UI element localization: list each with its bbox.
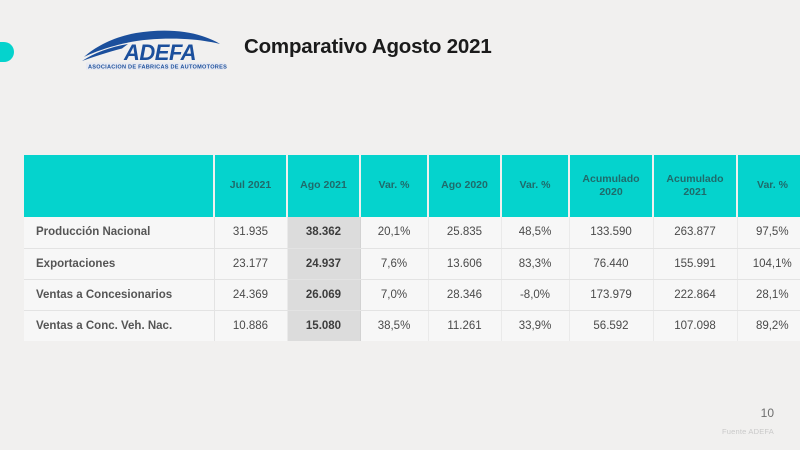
- cell-ago-2021: 24.937: [287, 248, 360, 279]
- cell-jul-2021: 23.177: [214, 248, 287, 279]
- column-header-label: Var. %: [520, 179, 551, 191]
- cell-ago-2020: 11.261: [428, 310, 501, 341]
- column-header-acumulado-2021: Acumulado 2021: [653, 155, 737, 217]
- cell-acumulado-2021: 107.098: [653, 310, 737, 341]
- cell-acumulado-2021: 263.877: [653, 217, 737, 248]
- cell-acumulado-2020: 173.979: [569, 279, 653, 310]
- column-header-label-line1: Acumulado: [666, 173, 723, 185]
- decorative-dot: [0, 42, 14, 62]
- page-number: 10: [761, 406, 774, 420]
- cell-var-mes: 38,5%: [360, 310, 428, 341]
- cell-var-acumulado: 28,1%: [737, 279, 800, 310]
- page-title: Comparativo Agosto 2021: [244, 35, 492, 61]
- cell-var-interanual: 48,5%: [501, 217, 569, 248]
- cell-acumulado-2020: 56.592: [569, 310, 653, 341]
- column-header-label: Var. %: [757, 179, 788, 191]
- column-header-blank: [24, 155, 214, 217]
- column-header-label: Var. %: [379, 179, 410, 191]
- cell-ago-2021: 38.362: [287, 217, 360, 248]
- source-note: Fuente ADEFA: [722, 427, 774, 436]
- cell-ago-2020: 13.606: [428, 248, 501, 279]
- column-header-label: Jul 2021: [230, 179, 271, 191]
- cell-var-mes: 7,6%: [360, 248, 428, 279]
- adefa-logo-mark: ADEFA ASOCIACION DE FABRICAS DE AUTOMOTO…: [80, 24, 230, 72]
- row-label: Exportaciones: [24, 248, 214, 279]
- table-body: Producción Nacional 31.935 38.362 20,1% …: [24, 217, 800, 341]
- column-header-jul-2021: Jul 2021: [214, 155, 287, 217]
- table-row: Producción Nacional 31.935 38.362 20,1% …: [24, 217, 800, 248]
- column-header-ago-2020: Ago 2020: [428, 155, 501, 217]
- cell-var-mes: 7,0%: [360, 279, 428, 310]
- cell-jul-2021: 24.369: [214, 279, 287, 310]
- cell-jul-2021: 10.886: [214, 310, 287, 341]
- slide: ADEFA ASOCIACION DE FABRICAS DE AUTOMOTO…: [0, 0, 800, 450]
- cell-ago-2021: 26.069: [287, 279, 360, 310]
- table-row: Exportaciones 23.177 24.937 7,6% 13.606 …: [24, 248, 800, 279]
- comparison-table: Jul 2021 Ago 2021 Var. % Ago 2020 Var. %: [24, 155, 800, 341]
- column-header-var-interanual: Var. %: [501, 155, 569, 217]
- table-header-row: Jul 2021 Ago 2021 Var. % Ago 2020 Var. %: [24, 155, 800, 217]
- cell-var-acumulado: 89,2%: [737, 310, 800, 341]
- cell-var-acumulado: 104,1%: [737, 248, 800, 279]
- column-header-var-acumulado: Var. %: [737, 155, 800, 217]
- cell-var-interanual: 83,3%: [501, 248, 569, 279]
- column-header-label-line2: 2020: [599, 186, 622, 198]
- table-row: Ventas a Concesionarios 24.369 26.069 7,…: [24, 279, 800, 310]
- column-header-label-line2: 2021: [683, 186, 706, 198]
- cell-jul-2021: 31.935: [214, 217, 287, 248]
- adefa-logo: ADEFA ASOCIACION DE FABRICAS DE AUTOMOTO…: [80, 24, 230, 72]
- cell-var-acumulado: 97,5%: [737, 217, 800, 248]
- cell-var-interanual: -8,0%: [501, 279, 569, 310]
- table-row: Ventas a Conc. Veh. Nac. 10.886 15.080 3…: [24, 310, 800, 341]
- column-header-label: Ago 2021: [300, 179, 347, 191]
- slide-header: ADEFA ASOCIACION DE FABRICAS DE AUTOMOTO…: [80, 24, 492, 72]
- cell-acumulado-2021: 155.991: [653, 248, 737, 279]
- column-header-var-mes: Var. %: [360, 155, 428, 217]
- row-label: Producción Nacional: [24, 217, 214, 248]
- cell-ago-2020: 25.835: [428, 217, 501, 248]
- cell-acumulado-2020: 76.440: [569, 248, 653, 279]
- cell-ago-2021: 15.080: [287, 310, 360, 341]
- column-header-acumulado-2020: Acumulado 2020: [569, 155, 653, 217]
- cell-acumulado-2020: 133.590: [569, 217, 653, 248]
- cell-ago-2020: 28.346: [428, 279, 501, 310]
- table-header: Jul 2021 Ago 2021 Var. % Ago 2020 Var. %: [24, 155, 800, 217]
- adefa-logo-tagline: ASOCIACION DE FABRICAS DE AUTOMOTORES: [88, 65, 227, 71]
- row-label: Ventas a Concesionarios: [24, 279, 214, 310]
- column-header-label: Ago 2020: [441, 179, 488, 191]
- column-header-label-line1: Acumulado: [582, 173, 639, 185]
- cell-acumulado-2021: 222.864: [653, 279, 737, 310]
- svg-text:ADEFA: ADEFA: [123, 40, 196, 65]
- cell-var-mes: 20,1%: [360, 217, 428, 248]
- column-header-ago-2021: Ago 2021: [287, 155, 360, 217]
- comparison-table-container: Jul 2021 Ago 2021 Var. % Ago 2020 Var. %: [24, 155, 778, 341]
- cell-var-interanual: 33,9%: [501, 310, 569, 341]
- row-label: Ventas a Conc. Veh. Nac.: [24, 310, 214, 341]
